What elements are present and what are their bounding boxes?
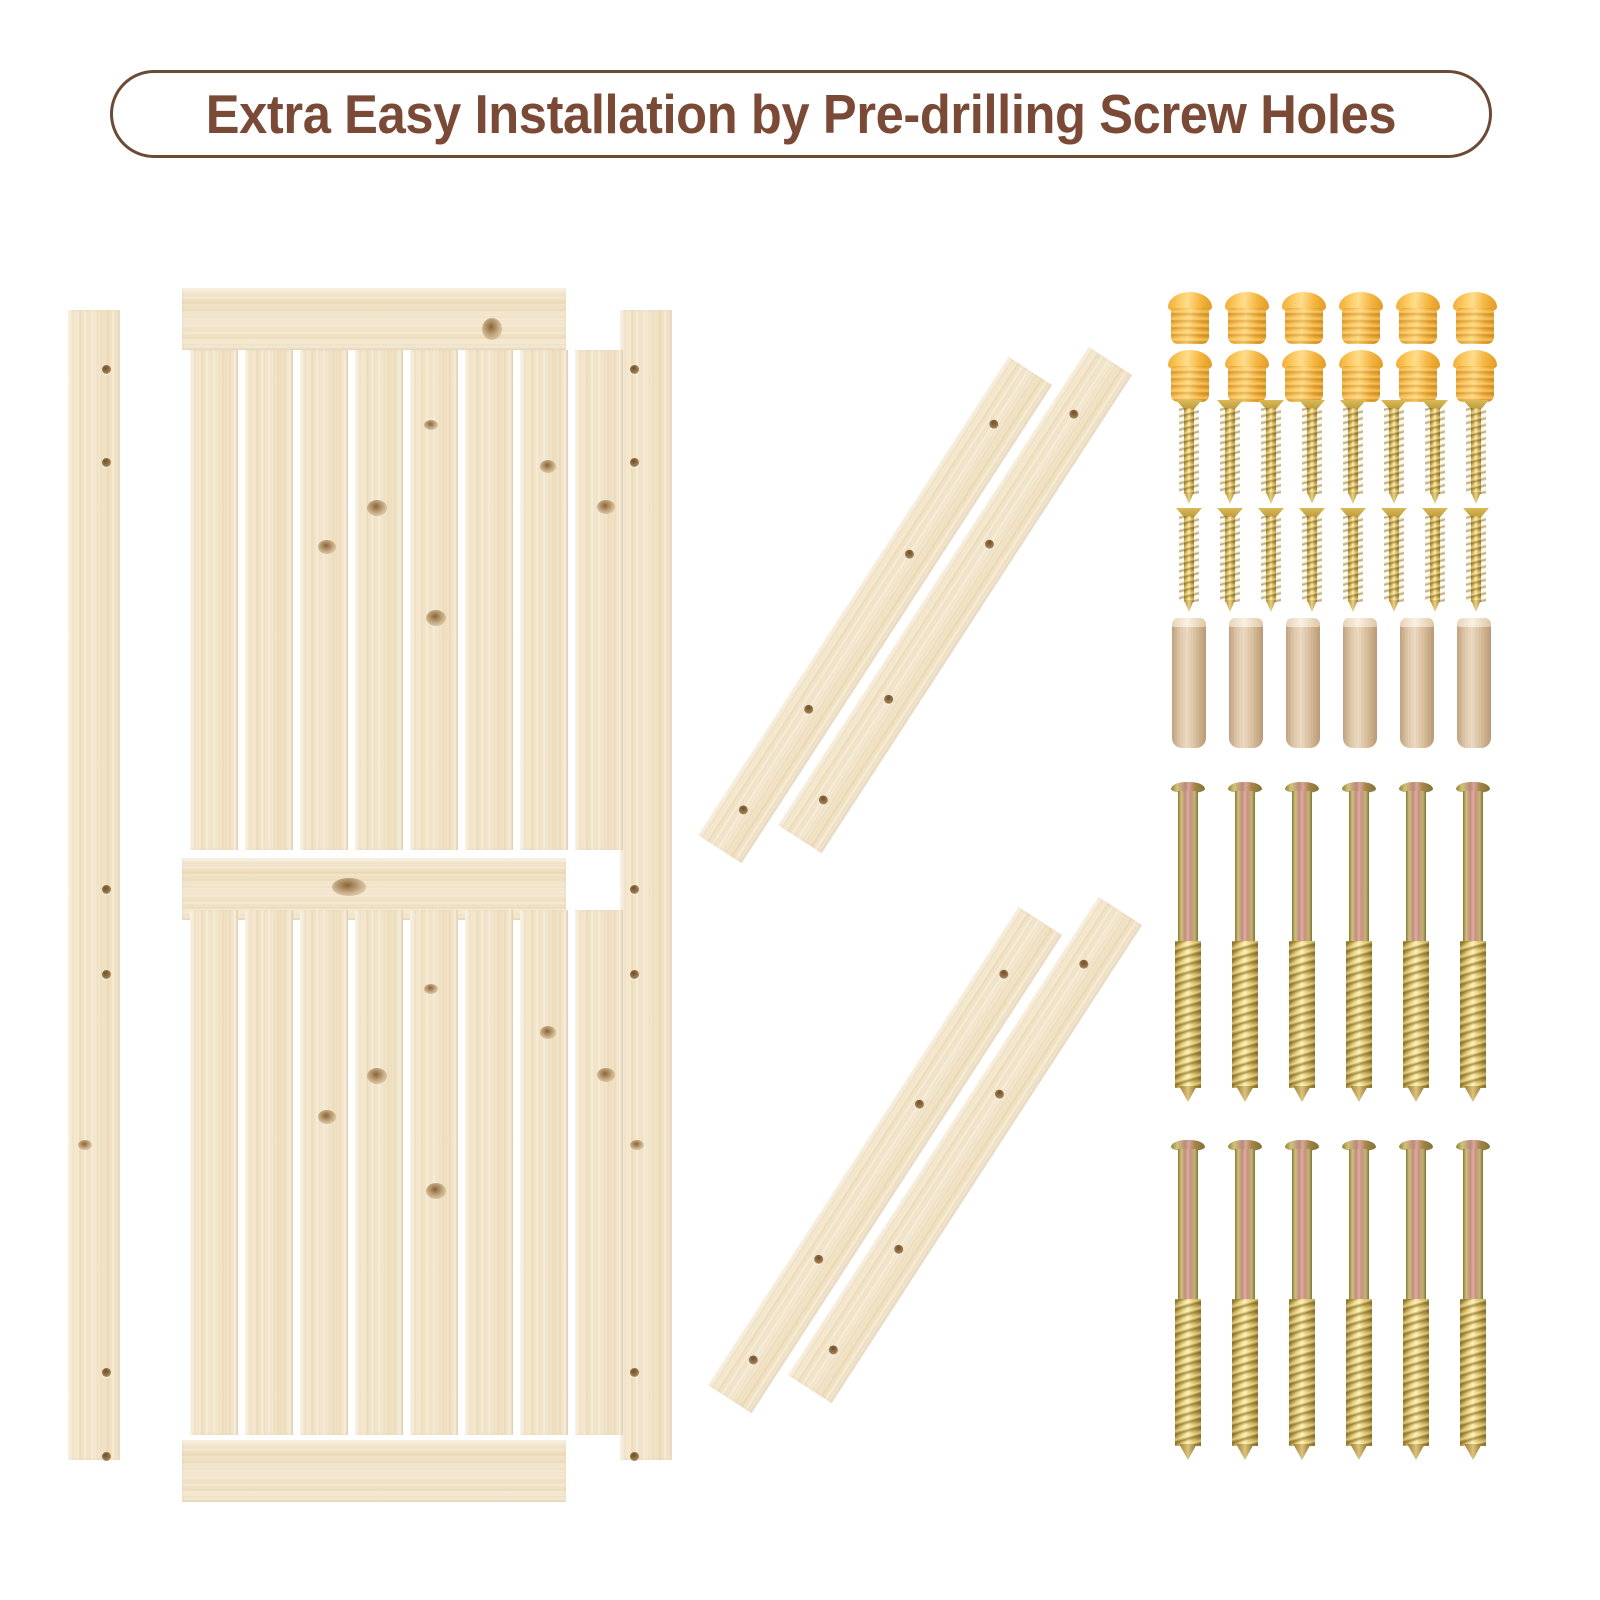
- wood-knot: [332, 878, 366, 896]
- pre-drilled-hole: [817, 794, 829, 806]
- long-screw-tip: [1236, 1444, 1254, 1460]
- dowel-end: [1229, 618, 1263, 627]
- pre-drilled-hole: [802, 703, 814, 715]
- screw-thread: [1302, 408, 1323, 494]
- title-banner: Extra Easy Installation by Pre-drilling …: [110, 70, 1492, 158]
- plug-body: [1228, 308, 1267, 344]
- short-wood-screws-item: [1217, 508, 1243, 612]
- screw-thread: [1466, 516, 1487, 602]
- plug-body: [1285, 366, 1324, 402]
- screw-hole-plugs-item: [1339, 292, 1383, 344]
- upper-brace-board: [698, 357, 1052, 863]
- long-confirmat-screws-item: [1463, 782, 1483, 1102]
- long-confirmat-screws-item: [1349, 782, 1369, 1102]
- long-confirmat-screws-item: [1235, 1140, 1255, 1460]
- wood-knot: [367, 1068, 387, 1084]
- wood-knot: [597, 1068, 615, 1082]
- wood-knot: [367, 500, 387, 516]
- bottom-rail: [182, 1440, 566, 1502]
- pre-drilled-hole: [882, 693, 894, 705]
- long-confirmat-screws-item: [1178, 1140, 1198, 1460]
- pre-drilled-hole: [1068, 408, 1080, 420]
- wood-knot: [540, 1026, 556, 1039]
- long-screw-tip: [1179, 1444, 1197, 1460]
- long-screw-thread: [1232, 1299, 1258, 1446]
- pre-drilled-hole: [630, 458, 639, 467]
- pre-drilled-hole: [747, 1354, 759, 1366]
- screw-tip: [1348, 600, 1358, 612]
- door-slat: [410, 910, 458, 1435]
- plug-body: [1342, 366, 1381, 402]
- dowel-end: [1286, 618, 1320, 627]
- screw-thread: [1384, 408, 1405, 494]
- short-wood-screws-item: [1463, 508, 1489, 612]
- long-confirmat-screws-item: [1235, 782, 1255, 1102]
- screw-tip: [1389, 600, 1399, 612]
- screw-hole-plugs-item: [1168, 292, 1212, 344]
- short-wood-screws-item: [1299, 508, 1325, 612]
- wooden-dowel-pins-item: [1400, 618, 1434, 748]
- long-screw-thread: [1403, 1299, 1429, 1446]
- long-screw-tip: [1236, 1086, 1254, 1102]
- screw-tip: [1307, 600, 1317, 612]
- screw-thread: [1343, 408, 1364, 494]
- pre-drilled-hole: [1078, 958, 1090, 970]
- pre-drilled-hole: [102, 970, 111, 979]
- wooden-dowel-pins-item: [1457, 618, 1491, 748]
- pre-drilled-hole: [630, 1368, 639, 1377]
- wood-knot: [597, 500, 615, 514]
- long-screw-tip: [1464, 1444, 1482, 1460]
- screw-tip: [1430, 600, 1440, 612]
- screw-thread: [1179, 516, 1200, 602]
- door-slat: [300, 350, 348, 850]
- door-slat: [465, 910, 513, 1435]
- screw-hole-plugs-item: [1168, 350, 1212, 402]
- pre-drilled-hole: [892, 1243, 904, 1255]
- plug-body: [1456, 308, 1495, 344]
- wood-knot: [318, 540, 336, 554]
- long-screw-shank: [1292, 791, 1312, 941]
- long-confirmat-screws-item: [1292, 782, 1312, 1102]
- top-rail: [182, 288, 566, 350]
- pre-drilled-hole: [913, 1098, 925, 1110]
- screw-thread: [1343, 516, 1364, 602]
- screw-tip: [1266, 492, 1276, 504]
- long-screw-shank: [1406, 1149, 1426, 1299]
- plug-body: [1399, 308, 1438, 344]
- long-confirmat-screws-item: [1349, 1140, 1369, 1460]
- short-wood-screws-item: [1176, 400, 1202, 504]
- short-wood-screws-item: [1422, 400, 1448, 504]
- long-screw-tip: [1464, 1086, 1482, 1102]
- dowel-end: [1457, 618, 1491, 627]
- long-screw-thread: [1403, 941, 1429, 1088]
- pre-drilled-hole: [102, 458, 111, 467]
- door-slat: [575, 910, 623, 1435]
- long-screw-shank: [1178, 791, 1198, 941]
- long-confirmat-screws-item: [1406, 782, 1426, 1102]
- wood-knot: [482, 318, 502, 340]
- door-slat: [355, 350, 403, 850]
- screw-hole-plugs-item: [1453, 292, 1497, 344]
- pre-drilled-hole: [102, 365, 111, 374]
- screw-thread: [1220, 408, 1241, 494]
- short-wood-screws-item: [1258, 400, 1284, 504]
- short-wood-screws-item: [1381, 508, 1407, 612]
- pre-drilled-hole: [102, 1452, 111, 1461]
- long-screw-shank: [1463, 1149, 1483, 1299]
- wood-knot: [426, 1183, 446, 1199]
- door-slat: [190, 350, 238, 850]
- long-confirmat-screws-item: [1292, 1140, 1312, 1460]
- long-screw-thread: [1346, 1299, 1372, 1446]
- screw-thread: [1384, 516, 1405, 602]
- door-slat: [520, 350, 568, 850]
- door-slat: [190, 910, 238, 1435]
- screw-hole-plugs-item: [1396, 292, 1440, 344]
- wooden-dowel-pins-item: [1286, 618, 1320, 748]
- long-screw-thread: [1175, 941, 1201, 1088]
- short-wood-screws-item: [1217, 400, 1243, 504]
- screw-tip: [1430, 492, 1440, 504]
- wooden-dowel-pins-item: [1343, 618, 1377, 748]
- wooden-dowel-pins-item: [1172, 618, 1206, 748]
- long-screw-shank: [1349, 1149, 1369, 1299]
- door-slat: [300, 910, 348, 1435]
- wood-knot: [424, 984, 438, 994]
- screw-hole-plugs-item: [1282, 292, 1326, 344]
- short-wood-screws-item: [1340, 508, 1366, 612]
- plug-body: [1285, 308, 1324, 344]
- plug-body: [1342, 308, 1381, 344]
- screw-hole-plugs-item: [1453, 350, 1497, 402]
- screw-thread: [1425, 516, 1446, 602]
- door-slat: [520, 910, 568, 1435]
- screw-tip: [1389, 492, 1399, 504]
- screw-thread: [1261, 516, 1282, 602]
- screw-tip: [1471, 492, 1481, 504]
- short-wood-screws-item: [1258, 508, 1284, 612]
- lower-brace-board: [788, 897, 1142, 1403]
- screw-hole-plugs-item: [1282, 350, 1326, 402]
- screw-thread: [1179, 408, 1200, 494]
- screw-hole-plugs-item: [1225, 292, 1269, 344]
- pre-drilled-hole: [630, 365, 639, 374]
- wood-knot: [424, 420, 438, 430]
- door-slat: [245, 350, 293, 850]
- long-screw-tip: [1179, 1086, 1197, 1102]
- screw-tip: [1471, 600, 1481, 612]
- plug-body: [1228, 366, 1267, 402]
- short-wood-screws-item: [1340, 400, 1366, 504]
- door-slat: [465, 350, 513, 850]
- long-screw-thread: [1289, 1299, 1315, 1446]
- pre-drilled-hole: [812, 1253, 824, 1265]
- long-screw-shank: [1349, 791, 1369, 941]
- screw-tip: [1307, 492, 1317, 504]
- pre-drilled-hole: [827, 1344, 839, 1356]
- pre-drilled-hole: [903, 548, 915, 560]
- screw-thread: [1425, 408, 1446, 494]
- long-screw-shank: [1463, 791, 1483, 941]
- dowel-end: [1343, 618, 1377, 627]
- screw-tip: [1184, 600, 1194, 612]
- long-screw-shank: [1235, 1149, 1255, 1299]
- long-screw-tip: [1350, 1444, 1368, 1460]
- door-slat: [245, 910, 293, 1435]
- screw-thread: [1466, 408, 1487, 494]
- long-screw-tip: [1407, 1444, 1425, 1460]
- long-screw-shank: [1292, 1149, 1312, 1299]
- wood-knot: [78, 1140, 92, 1150]
- short-wood-screws-item: [1463, 400, 1489, 504]
- long-screw-thread: [1346, 941, 1372, 1088]
- long-confirmat-screws-item: [1178, 782, 1198, 1102]
- screw-tip: [1348, 492, 1358, 504]
- pre-drilled-hole: [630, 970, 639, 979]
- long-screw-thread: [1460, 1299, 1486, 1446]
- screw-thread: [1220, 516, 1241, 602]
- long-screw-tip: [1293, 1444, 1311, 1460]
- left-stile: [68, 310, 120, 1460]
- long-screw-thread: [1460, 941, 1486, 1088]
- pre-drilled-hole: [998, 968, 1010, 980]
- long-screw-shank: [1406, 791, 1426, 941]
- plug-body: [1399, 366, 1438, 402]
- plug-body: [1456, 366, 1495, 402]
- pre-drilled-hole: [737, 804, 749, 816]
- long-screw-tip: [1407, 1086, 1425, 1102]
- plug-body: [1171, 366, 1210, 402]
- screw-thread: [1302, 516, 1323, 602]
- short-wood-screws-item: [1381, 400, 1407, 504]
- screw-hole-plugs-item: [1339, 350, 1383, 402]
- wood-knot: [630, 1140, 644, 1150]
- long-screw-tip: [1293, 1086, 1311, 1102]
- pre-drilled-hole: [630, 885, 639, 894]
- wood-knot: [426, 610, 446, 626]
- pre-drilled-hole: [630, 1452, 639, 1461]
- screw-tip: [1225, 492, 1235, 504]
- long-screw-thread: [1289, 941, 1315, 1088]
- wooden-dowel-pins-item: [1229, 618, 1263, 748]
- long-confirmat-screws-item: [1406, 1140, 1426, 1460]
- wood-knot: [540, 460, 556, 473]
- wood-knot: [318, 1110, 336, 1124]
- screw-hole-plugs-item: [1396, 350, 1440, 402]
- lower-brace-board: [708, 907, 1062, 1413]
- screw-tip: [1225, 600, 1235, 612]
- right-stile: [620, 310, 672, 1460]
- pre-drilled-hole: [102, 1368, 111, 1377]
- long-screw-thread: [1232, 941, 1258, 1088]
- screw-thread: [1261, 408, 1282, 494]
- screw-tip: [1266, 600, 1276, 612]
- short-wood-screws-item: [1299, 400, 1325, 504]
- pre-drilled-hole: [983, 538, 995, 550]
- dowel-end: [1172, 618, 1206, 627]
- dowel-end: [1400, 618, 1434, 627]
- long-screw-shank: [1178, 1149, 1198, 1299]
- plug-body: [1171, 308, 1210, 344]
- door-slat: [575, 350, 623, 850]
- short-wood-screws-item: [1422, 508, 1448, 612]
- door-slat: [410, 350, 458, 850]
- door-slat: [355, 910, 403, 1435]
- pre-drilled-hole: [988, 418, 1000, 430]
- upper-brace-board: [778, 347, 1132, 853]
- page-title: Extra Easy Installation by Pre-drilling …: [206, 82, 1396, 146]
- long-confirmat-screws-item: [1463, 1140, 1483, 1460]
- pre-drilled-hole: [993, 1088, 1005, 1100]
- short-wood-screws-item: [1176, 508, 1202, 612]
- long-screw-shank: [1235, 791, 1255, 941]
- long-screw-thread: [1175, 1299, 1201, 1446]
- pre-drilled-hole: [102, 885, 111, 894]
- screw-hole-plugs-item: [1225, 350, 1269, 402]
- screw-tip: [1184, 492, 1194, 504]
- long-screw-tip: [1350, 1086, 1368, 1102]
